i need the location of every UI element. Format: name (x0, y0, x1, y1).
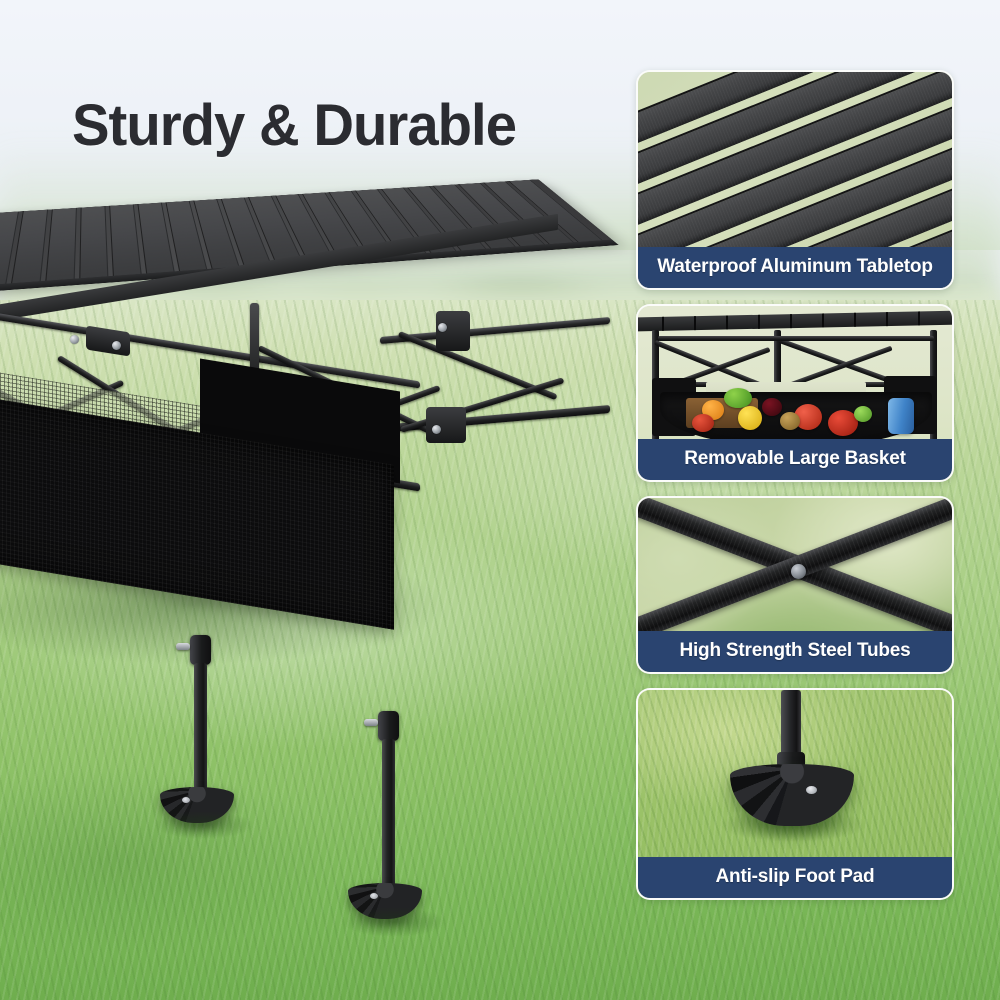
frame-bracket (426, 407, 466, 443)
foot-shadow-right (342, 907, 446, 937)
feature-panel-waterproof-aluminum-tabletop[interactable]: Waterproof Aluminum Tabletop (636, 70, 954, 290)
fruit-cherries (762, 398, 782, 416)
table-leg-lower-left (194, 663, 207, 793)
fruit-green (724, 388, 752, 408)
fruit-red-1 (692, 414, 714, 432)
leg-clamp-lever-left (176, 643, 190, 650)
product-feature-image: Sturdy & Durable (0, 0, 1000, 1000)
leg-clamp-left (190, 635, 211, 665)
foot-screw-left (182, 797, 190, 803)
panel-caption-waterproof-aluminum-tabletop: Waterproof Aluminum Tabletop (638, 247, 952, 288)
panel-caption-anti-slip-foot-pad: Anti-slip Foot Pad (638, 857, 952, 898)
fruit-kiwi (780, 412, 800, 430)
leg-clamp-right (378, 711, 399, 741)
page-title: Sturdy & Durable (72, 92, 516, 159)
table-leg-lower-right (382, 739, 395, 889)
foot-screw-right (370, 893, 378, 899)
panel-caption-removable-large-basket: Removable Large Basket (638, 439, 952, 480)
panel-caption-high-strength-steel-tubes: High Strength Steel Tubes (638, 631, 952, 672)
feature-panel-column: Waterproof Aluminum Tabletop (636, 70, 954, 900)
feature-panel-anti-slip-foot-pad[interactable]: Anti-slip Foot Pad (636, 688, 954, 900)
hero-product-illustration (0, 215, 660, 955)
feature-panel-high-strength-steel-tubes[interactable]: High Strength Steel Tubes (636, 496, 954, 674)
feature-panel-removable-large-basket[interactable]: Removable Large Basket (636, 304, 954, 482)
leg-clamp-lever-right (364, 719, 378, 726)
frame-bracket (86, 326, 130, 357)
tube-rivet (791, 564, 806, 579)
pad-screw (806, 786, 817, 794)
fruit-green-2 (854, 406, 872, 422)
blue-water-bottle (888, 398, 914, 434)
foot-shadow-left (154, 811, 254, 839)
fruit-yellow (738, 406, 762, 430)
